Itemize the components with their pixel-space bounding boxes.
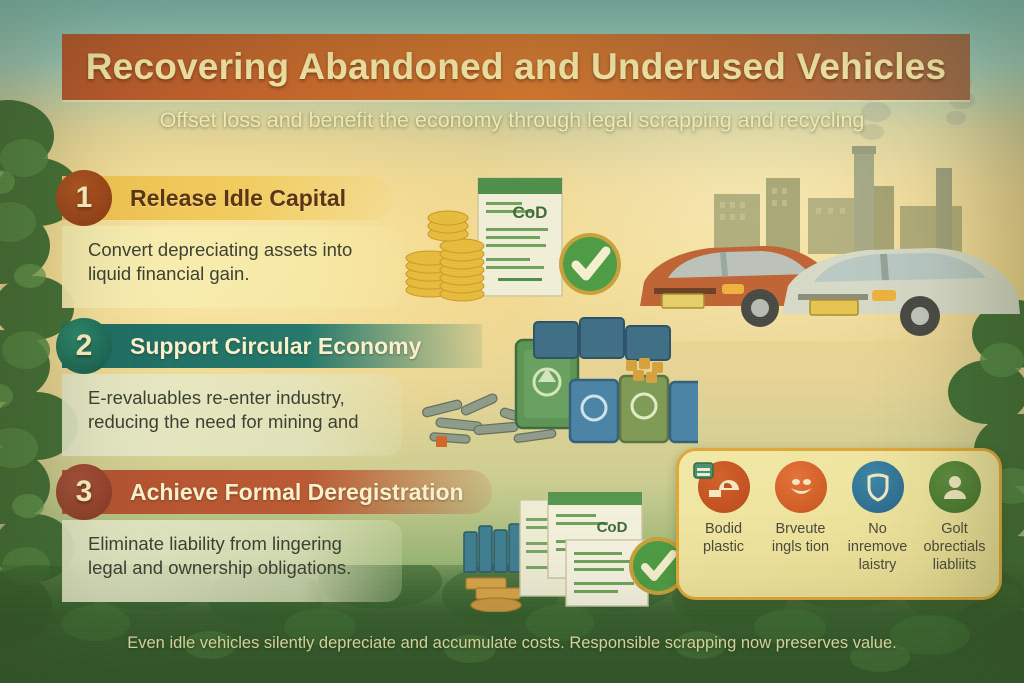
benefit-label-2: Brveute ingls tion [763, 520, 839, 556]
step-row-1: 1 Release Idle Capital Convert depreciat… [62, 176, 402, 308]
benefit-4-line3: liabliits [917, 556, 993, 574]
infographic-poster: Recovering Abandoned and Underused Vehic… [0, 0, 1024, 683]
benefit-2-line1: Brveute [763, 520, 839, 538]
step-row-3: 3 Achieve Formal Deregistration Eliminat… [62, 470, 492, 602]
benefit-3-line1: No [840, 520, 916, 538]
step-3-title: Achieve Formal Deregistration [130, 479, 464, 506]
benefit-1-line1: Bodid [686, 520, 762, 538]
benefit-4-line1: Golt [917, 520, 993, 538]
step-3-badge: 3 [56, 464, 112, 520]
coins-certificate-illustration: CoD [404, 172, 636, 312]
benefit-1-line2: plastic [686, 538, 762, 556]
svg-text:CoD: CoD [513, 203, 548, 222]
page-title: Recovering Abandoned and Underused Vehic… [62, 34, 970, 100]
step-1-badge: 1 [56, 170, 112, 226]
benefit-label-4: Golt obrectials liabliits [917, 520, 993, 574]
benefit-2-line2: ingls tion [763, 538, 839, 556]
svg-text:CoD: CoD [597, 519, 628, 536]
car-silver [782, 248, 1020, 336]
benefit-item-4: Golt obrectials liabliits [916, 461, 993, 591]
step-2-title: Support Circular Economy [130, 333, 421, 360]
benefits-panel: Bodid plastic Brveute ingls tion [676, 448, 1002, 600]
certificate-document: CoD [478, 178, 562, 296]
bin-row [570, 376, 698, 442]
benefit-item-3: No inremove laistry [839, 461, 916, 591]
step-1-header: 1 Release Idle Capital [62, 176, 392, 220]
step-2-badge: 2 [56, 318, 112, 374]
benefit-label-1: Bodid plastic [686, 520, 762, 556]
documents-illustration: CoD [462, 488, 688, 612]
step-1-body: Convert depreciating assets into liquid … [62, 226, 402, 308]
check-badge [559, 233, 621, 295]
stacked-crates [534, 318, 670, 360]
footer-note: Even idle vehicles silently depreciate a… [0, 634, 1024, 653]
step-2-body: E-revaluables re-enter industry, reducin… [62, 374, 402, 456]
benefit-item-2: Brveute ingls tion [762, 461, 839, 591]
smiley-face-icon [775, 461, 827, 513]
step-3-body: Eliminate liability from lingering legal… [62, 520, 402, 602]
coin-stacks [406, 211, 484, 301]
benefit-4-line2: obrectials [917, 538, 993, 556]
tag-icon [693, 461, 715, 481]
step-3-header: 3 Achieve Formal Deregistration [62, 470, 492, 514]
page-subtitle: Offset loss and benefit the economy thro… [0, 108, 1024, 133]
benefit-3-line2: inremove [840, 538, 916, 556]
step-row-2: 2 Support Circular Economy E-revaluables… [62, 324, 482, 456]
person-icon [929, 461, 981, 513]
step-2-header: 2 Support Circular Economy [62, 324, 482, 368]
benefit-3-line3: laistry [840, 556, 916, 574]
shield-heart-icon [852, 461, 904, 513]
benefit-label-3: No inremove laistry [840, 520, 916, 574]
step-1-title: Release Idle Capital [130, 185, 346, 212]
